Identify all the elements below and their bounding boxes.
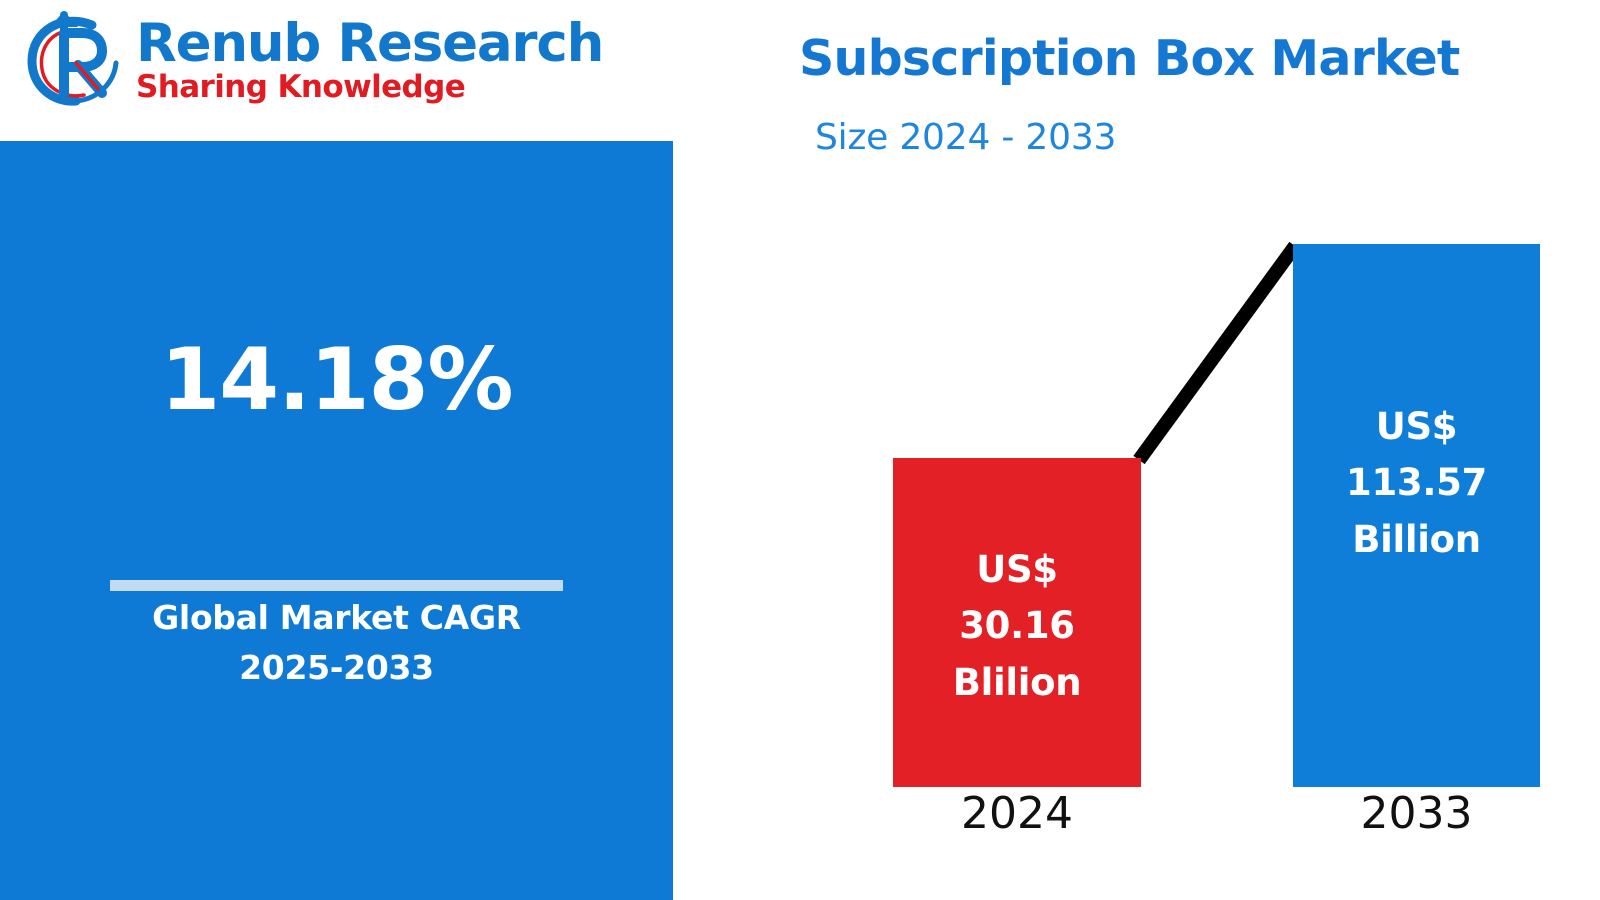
bar-2033-unit: Billion xyxy=(1346,512,1487,568)
bar-2024-value-label: US$ 30.16 Blilion xyxy=(953,542,1082,711)
bar-2024-unit: Blilion xyxy=(953,655,1082,711)
bar-2024-currency: US$ xyxy=(953,542,1082,598)
cagr-divider xyxy=(110,580,563,591)
bar-2024: US$ 30.16 Blilion xyxy=(893,458,1141,787)
brand-tagline: Sharing Knowledge xyxy=(136,71,603,104)
cagr-label-text: Global Market CAGR xyxy=(152,598,521,637)
cagr-label-block: Global Market CAGR 2025-2033 xyxy=(0,593,673,693)
renub-r-circle-arrow-logo-icon xyxy=(20,9,128,109)
axis-label-2033: 2033 xyxy=(1293,790,1540,838)
brand-name: Renub Research xyxy=(136,18,603,70)
cagr-panel: 14.18% Global Market CAGR 2025-2033 Sour… xyxy=(0,141,673,900)
brand-wordmark: Renub Research Sharing Knowledge xyxy=(136,14,603,103)
bar-2033-currency: US$ xyxy=(1346,399,1487,455)
bar-2033: US$ 113.57 Billion xyxy=(1293,244,1540,787)
cagr-period-text: 2025-2033 xyxy=(0,643,673,693)
page-subtitle: Size 2024 - 2033 xyxy=(815,118,1116,158)
bar-2033-value-label: US$ 113.57 Billion xyxy=(1346,399,1487,568)
bar-2024-amount: 30.16 xyxy=(953,598,1082,654)
page-title: Subscription Box Market xyxy=(799,32,1460,86)
brand-logo: Renub Research Sharing Knowledge xyxy=(20,4,540,114)
cagr-value: 14.18% xyxy=(0,337,673,423)
axis-label-2024: 2024 xyxy=(893,790,1141,838)
infographic-canvas: Renub Research Sharing Knowledge 14.18% … xyxy=(0,0,1600,900)
chart-region: Subscription Box Market Size 2024 - 2033… xyxy=(673,0,1600,900)
bar-2033-amount: 113.57 xyxy=(1346,455,1487,511)
